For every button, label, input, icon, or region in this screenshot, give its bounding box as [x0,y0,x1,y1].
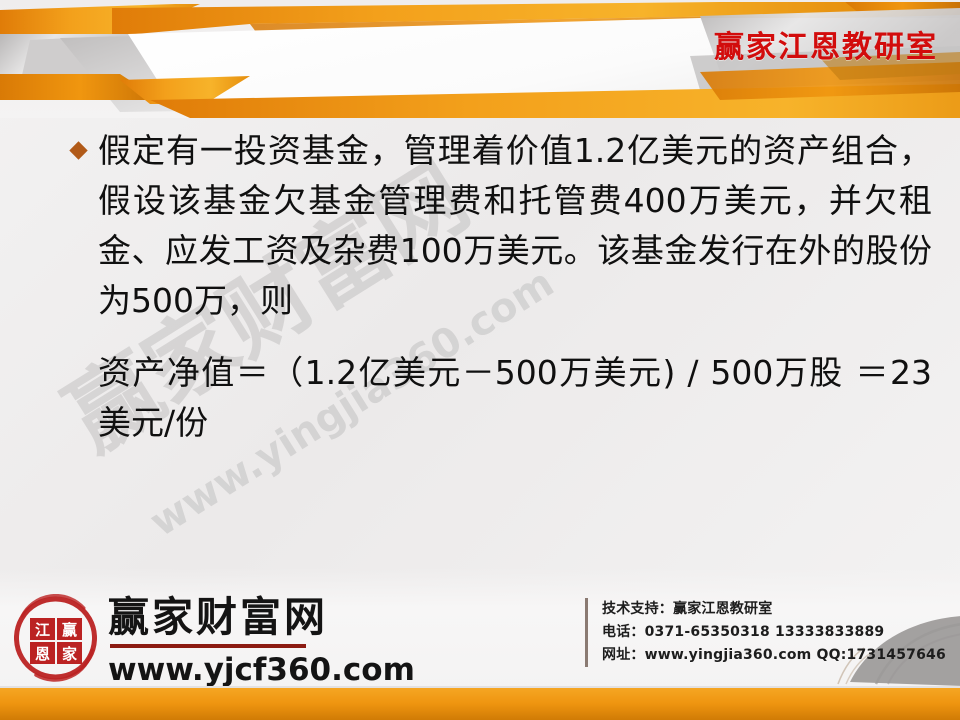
seal-char-4: 家 [62,645,77,663]
bullet-paragraph: 假定有一投资基金，管理着价值1.2亿美元的资产组合，假设该基金欠基金管理费和托管… [0,126,960,326]
slide: 赢家江恩教研室 赢家财富网 www.yingjia360.com 假定有一投资基… [0,0,960,720]
brand-url[interactable]: www.yjcf360.com [108,652,408,688]
seal-char-2: 赢 [62,621,77,639]
footer-accent-bar [0,686,960,720]
seal-char-1: 江 [35,621,50,639]
contact-block: 技术支持：赢家江恩教研室 电话：0371-65350318 1333383388… [585,598,946,667]
contact-support: 技术支持：赢家江恩教研室 [602,598,946,621]
seal-graphic: 江 赢 恩 家 [12,594,100,682]
brand-name: 赢家财富网 [108,594,408,640]
contact-phone: 电话：0371-65350318 13333833889 [602,621,946,644]
paragraph-text: 假定有一投资基金，管理着价值1.2亿美元的资产组合，假设该基金欠基金管理费和托管… [68,126,932,326]
formula-text: 资产净值＝（1.2亿美元－500万美元) / 500万股 ＝23美元/份 [68,348,932,448]
brand-divider [110,644,306,648]
contact-website[interactable]: 网址：www.yingjia360.com QQ:1731457646 [602,644,946,667]
page-title: 赢家江恩教研室 [714,22,938,66]
seal-char-3: 恩 [35,645,50,663]
seal-logo: 江 赢 恩 家 [12,594,100,682]
footer: 江 赢 恩 家 赢家财富网 www.yjcf360.com 技术支持：赢家江恩教… [0,568,960,720]
slide-content: 假定有一投资基金，管理着价值1.2亿美元的资产组合，假设该基金欠基金管理费和托管… [0,126,960,448]
formula-paragraph: 资产净值＝（1.2亿美元－500万美元) / 500万股 ＝23美元/份 [0,326,960,448]
header-banner: 赢家江恩教研室 [0,0,960,118]
brand-block: 赢家财富网 www.yjcf360.com [108,594,408,688]
